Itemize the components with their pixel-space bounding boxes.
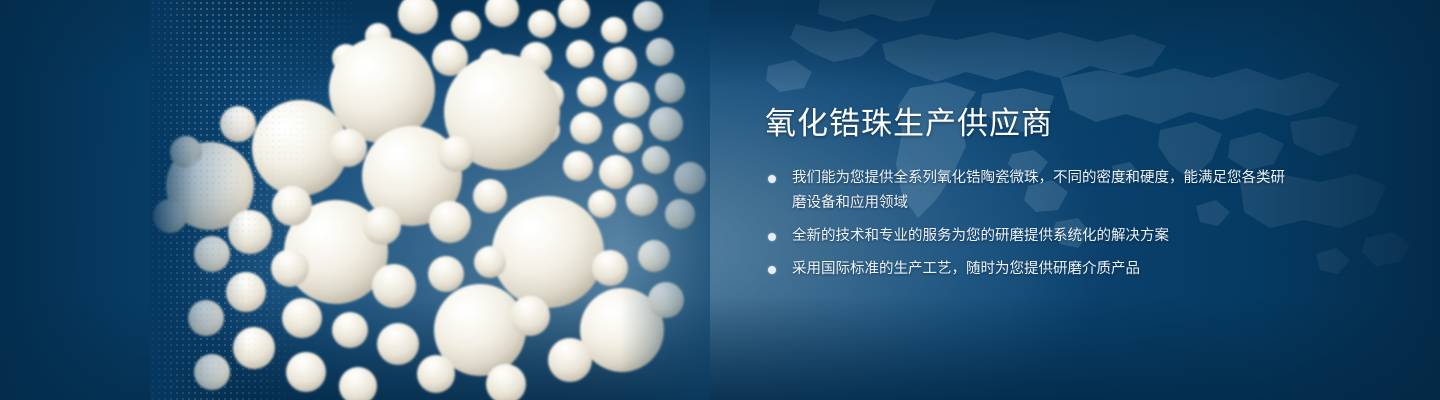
feature-bullet-list: 我们能为您提供全系列氧化锆陶瓷微珠，不同的密度和硬度，能满足您各类研磨设备和应用… [765, 166, 1285, 282]
bullet-dot-icon [768, 266, 776, 274]
feature-bullet-item: 我们能为您提供全系列氧化锆陶瓷微珠，不同的密度和硬度，能满足您各类研磨设备和应用… [765, 166, 1285, 216]
zirconia-beads-photo [150, 0, 710, 400]
banner-copy: 氧化锆珠生产供应商 我们能为您提供全系列氧化锆陶瓷微珠，不同的密度和硬度，能满足… [765, 104, 1285, 282]
feature-bullet-text: 全新的技术和专业的服务为您的研磨提供系统化的解决方案 [792, 224, 1285, 249]
feature-bullet-item: 采用国际标准的生产工艺，随时为您提供研磨介质产品 [765, 257, 1285, 282]
bullet-dot-icon [768, 175, 776, 183]
feature-bullet-text: 采用国际标准的生产工艺，随时为您提供研磨介质产品 [792, 257, 1285, 282]
feature-bullet-text: 我们能为您提供全系列氧化锆陶瓷微珠，不同的密度和硬度，能满足您各类研磨设备和应用… [792, 166, 1285, 216]
beads-illustration [150, 0, 710, 400]
banner-headline: 氧化锆珠生产供应商 [765, 104, 1285, 144]
feature-bullet-item: 全新的技术和专业的服务为您的研磨提供系统化的解决方案 [765, 224, 1285, 249]
hero-banner: 氧化锆珠生产供应商 我们能为您提供全系列氧化锆陶瓷微珠，不同的密度和硬度，能满足… [0, 0, 1440, 400]
bullet-dot-icon [768, 233, 776, 241]
